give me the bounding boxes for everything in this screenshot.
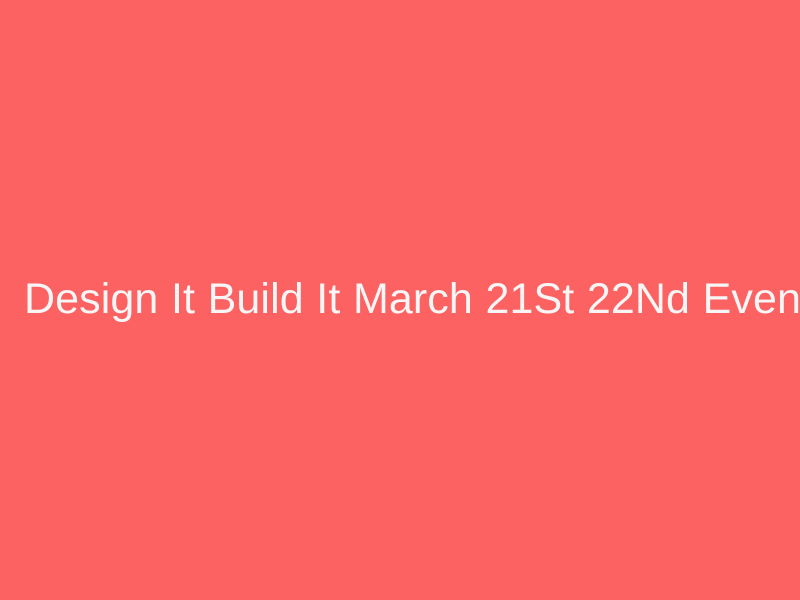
placeholder-banner: Design It Build It March 21St 22Nd Event (0, 0, 800, 600)
banner-caption: Design It Build It March 21St 22Nd Event (0, 275, 800, 324)
